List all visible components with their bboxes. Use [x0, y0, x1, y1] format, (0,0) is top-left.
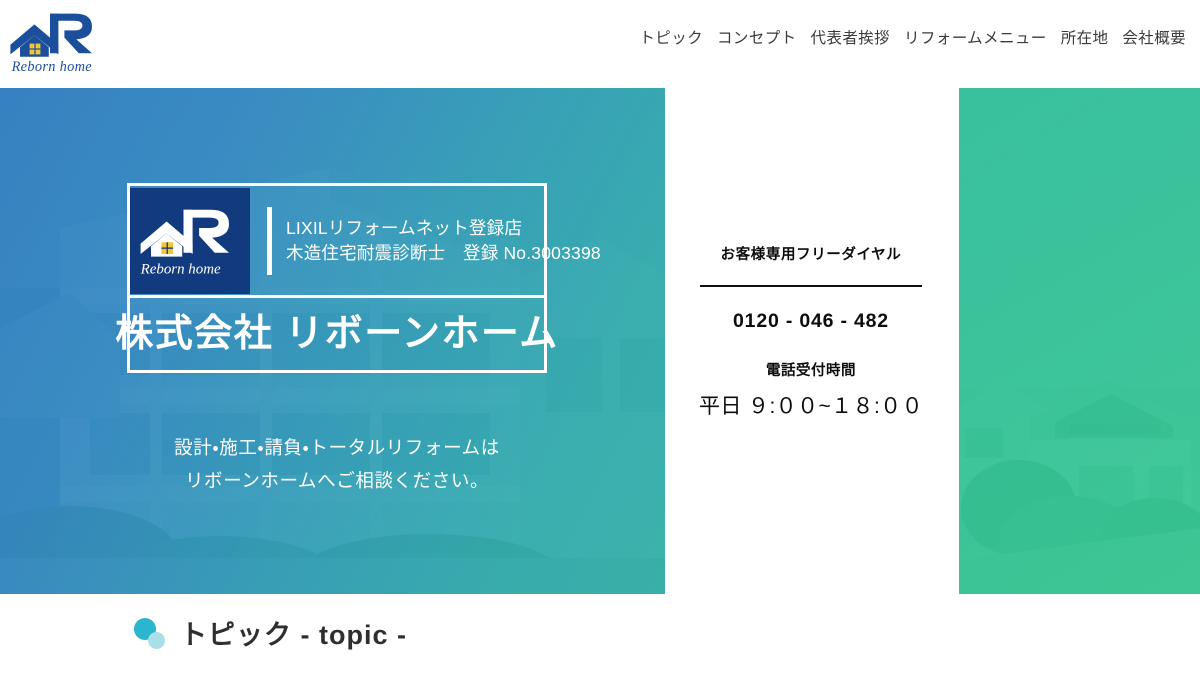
nav-item-reform-menu[interactable]: リフォームメニュー: [904, 31, 1047, 47]
certification-line-1: LIXILリフォームネット登録店: [286, 216, 601, 241]
topic-dot-sub-icon: [148, 632, 165, 649]
hero-section: Reborn home LIXILリフォームネット登録店 木造住宅耐震診断士 登…: [0, 88, 1200, 594]
certification-text: LIXILリフォームネット登録店 木造住宅耐震診断士 登録 No.3003398: [286, 216, 601, 266]
hero-tagline-line-2: リボーンホームへご相談ください。: [185, 470, 489, 491]
nav-item-company-profile[interactable]: 会社概要: [1122, 31, 1186, 47]
main-nav: トピック コンセプト 代表者挨拶 リフォームメニュー 所在地 会社概要: [639, 31, 1186, 47]
nav-item-topic[interactable]: トピック: [639, 31, 703, 47]
hero-tagline-line-1: 設計・施工・請負・トータルリフォームは: [174, 437, 500, 458]
contact-phone-number[interactable]: 0120 - 046 - 482: [680, 312, 942, 332]
page-root: Reborn home トピック コンセプト 代表者挨拶 リフォームメニュー 所…: [0, 0, 1200, 678]
nav-item-location[interactable]: 所在地: [1061, 31, 1109, 47]
company-name: 株式会社 リボーンホーム: [115, 315, 559, 353]
nav-item-concept[interactable]: コンセプト: [717, 31, 797, 47]
nav-item-greeting[interactable]: 代表者挨拶: [811, 31, 891, 47]
contact-hours-value: 平日 ９:００~１８:００: [680, 392, 942, 422]
topic-section: トピック - topic -: [0, 594, 1200, 678]
topic-dots-icon: [134, 618, 168, 652]
contact-label: お客様専用フリーダイヤル: [680, 248, 942, 263]
hero-tagline: 設計・施工・請負・トータルリフォームは リボーンホームへご相談ください。: [127, 432, 547, 498]
svg-text:Reborn home: Reborn home: [140, 261, 221, 277]
hero-identity-box: Reborn home LIXILリフォームネット登録店 木造住宅耐震診断士 登…: [127, 183, 547, 373]
reborn-home-house-r-logo-white-icon: Reborn home: [138, 195, 242, 287]
topic-heading: トピック - topic -: [134, 618, 407, 652]
company-name-frame: 株式会社 リボーンホーム: [127, 295, 547, 373]
contact-block: お客様専用フリーダイヤル 0120 - 046 - 482 電話受付時間 平日 …: [680, 248, 942, 421]
contact-divider: [700, 285, 922, 287]
hero-panel-left: Reborn home LIXILリフォームネット登録店 木造住宅耐震診断士 登…: [0, 88, 665, 594]
certification-divider: [267, 207, 272, 275]
topic-title: トピック - topic -: [180, 622, 407, 649]
hero-logo-badge: Reborn home: [130, 188, 250, 294]
certification-frame: Reborn home LIXILリフォームネット登録店 木造住宅耐震診断士 登…: [127, 183, 547, 295]
brand-logo[interactable]: Reborn home: [8, 10, 104, 74]
hero-right-tint: [959, 88, 1200, 594]
reborn-home-house-r-logo-icon: Reborn home: [8, 10, 104, 75]
site-header: Reborn home トピック コンセプト 代表者挨拶 リフォームメニュー 所…: [0, 0, 1200, 88]
certification-line-2: 木造住宅耐震診断士 登録 No.3003398: [286, 241, 601, 266]
svg-text:Reborn home: Reborn home: [11, 59, 93, 75]
contact-hours-label: 電話受付時間: [680, 364, 942, 379]
hero-panel-right: [959, 88, 1200, 594]
